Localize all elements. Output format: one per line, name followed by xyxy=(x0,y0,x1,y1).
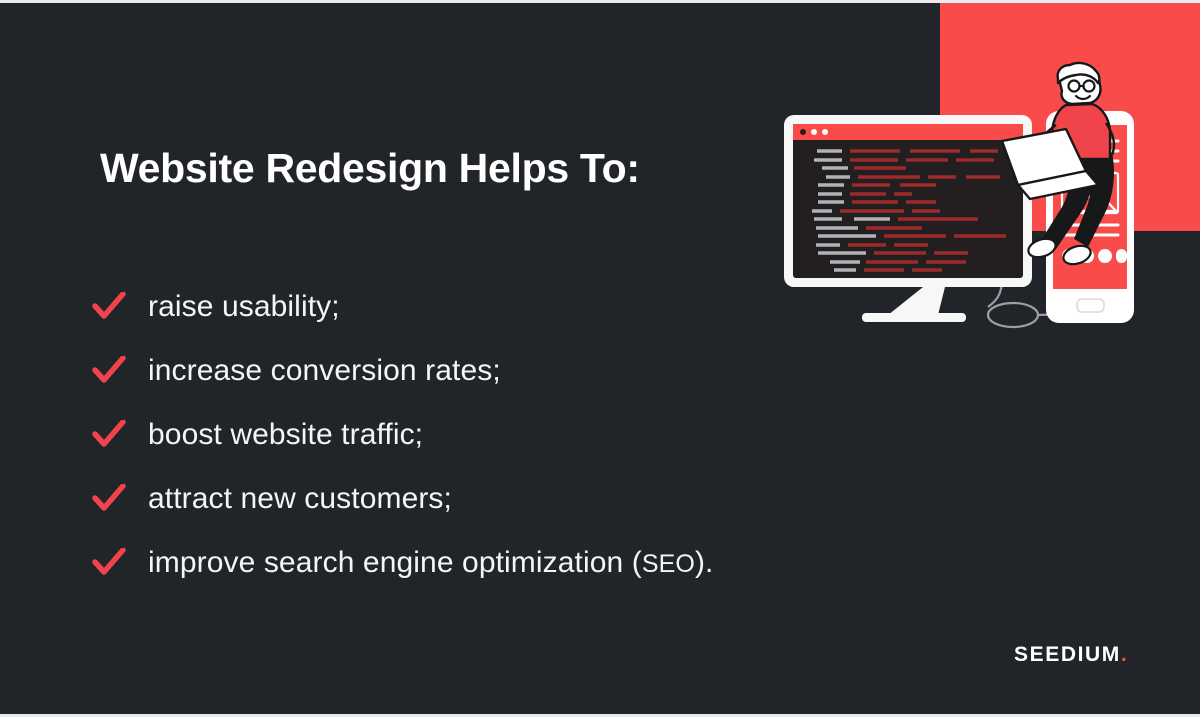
list-item: attract new customers; xyxy=(88,467,928,531)
list-item-label: boost website traffic; xyxy=(148,418,423,452)
head xyxy=(1058,63,1101,104)
list-item: boost website traffic; xyxy=(88,403,928,467)
check-icon xyxy=(88,356,148,386)
list-item-label: increase conversion rates; xyxy=(148,354,501,388)
list-item-label-head: improve search engine optimization ( xyxy=(148,546,642,579)
check-icon xyxy=(88,420,148,450)
window-dot-2 xyxy=(811,129,817,135)
brand-logo-dot: . xyxy=(1121,643,1128,666)
brand-logo: SEEDIUM. xyxy=(1014,643,1128,667)
check-icon xyxy=(88,548,148,578)
check-icon xyxy=(88,484,148,514)
window-dot-1 xyxy=(800,129,806,135)
list-item-label-tail: ). xyxy=(695,546,714,579)
list-item: increase conversion rates; xyxy=(88,339,928,403)
check-icon xyxy=(88,292,148,322)
brand-logo-name: SEEDIUM xyxy=(1014,643,1121,666)
desktop-monitor xyxy=(784,115,1032,287)
window-dot-3 xyxy=(822,129,828,135)
list-item: improve search engine optimization (SEO)… xyxy=(88,531,928,595)
list-item: raise usability; xyxy=(88,275,928,339)
benefits-list: raise usability; increase conversion rat… xyxy=(88,275,928,595)
list-item-label: raise usability; xyxy=(148,290,340,324)
page-title: Website Redesign Helps To: xyxy=(100,145,640,192)
list-item-label: improve search engine optimization (SEO)… xyxy=(148,546,713,580)
slide-canvas: Website Redesign Helps To: raise usabili… xyxy=(0,0,1200,717)
list-item-label: attract new customers; xyxy=(148,482,452,516)
list-item-label-acronym: SEO xyxy=(642,550,695,578)
